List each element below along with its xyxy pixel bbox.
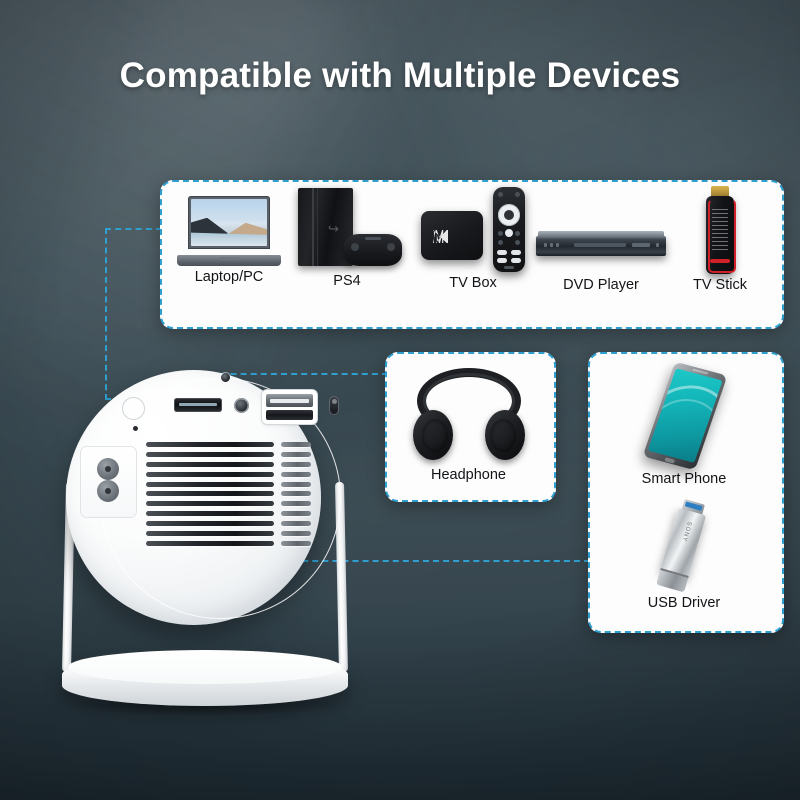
ac-socket[interactable]: [81, 447, 136, 517]
tv-box-icon: [416, 187, 530, 272]
page-title: Compatible with Multiple Devices: [0, 56, 800, 96]
device-label: Laptop/PC: [172, 269, 286, 285]
usb-drive-icon: SONY: [590, 498, 778, 592]
indicator-dot-icon: [133, 426, 138, 431]
device-tv-stick[interactable]: TV Stick: [670, 186, 770, 293]
device-headphone[interactable]: Headphone: [387, 368, 550, 483]
hdmi-port[interactable]: [174, 398, 222, 412]
portable-projector: [40, 370, 370, 710]
smartphone-icon: [590, 364, 778, 468]
ac-prong-icon: [97, 458, 119, 480]
device-label: USB Driver: [590, 595, 778, 611]
remote-control-icon: [493, 187, 525, 272]
dc-power-port[interactable]: [329, 396, 339, 415]
audio-jack-port[interactable]: [234, 398, 249, 413]
device-label: Headphone: [387, 467, 550, 483]
infographic-canvas: Compatible with Multiple Devices: [0, 0, 800, 800]
tv-stick-icon: [670, 186, 770, 274]
headphone-icon: [387, 368, 550, 464]
dvd-player-icon: [536, 218, 666, 274]
device-label: Smart Phone: [590, 471, 778, 487]
projector-vent-grille-side: [281, 442, 311, 546]
connector-hdmi-to-top-panel: [105, 228, 162, 230]
device-label: TV Stick: [670, 277, 770, 293]
device-tv-box[interactable]: TV Box: [416, 187, 530, 291]
device-usb-drive[interactable]: SONY USB Driver: [590, 498, 778, 611]
usb-slot-port[interactable]: [266, 410, 313, 420]
usb-a-port[interactable]: [266, 394, 313, 407]
usb-devices-panel: Smart Phone SONY USB Driver: [588, 352, 784, 633]
projector-stand-base-top: [68, 650, 342, 684]
ir-receiver-icon: [221, 373, 230, 382]
device-label: DVD Player: [536, 277, 666, 293]
device-ps4[interactable]: ↪ PS4: [290, 188, 404, 289]
usb-port[interactable]: [262, 390, 317, 424]
device-dvd-player[interactable]: DVD Player: [536, 218, 666, 293]
projector-body: [66, 370, 321, 625]
audio-output-panel: Headphone: [385, 352, 556, 502]
video-sources-panel: Laptop/PC ↪ PS4: [160, 180, 784, 329]
projector-vent-grille: [146, 442, 274, 546]
device-laptop[interactable]: Laptop/PC: [172, 196, 286, 285]
game-console-icon: ↪: [290, 188, 404, 270]
device-smart-phone[interactable]: Smart Phone: [590, 364, 778, 487]
decorative-circle-icon: [122, 397, 145, 420]
laptop-icon: [172, 196, 286, 266]
device-label: PS4: [290, 273, 404, 289]
device-label: TV Box: [416, 275, 530, 291]
ac-prong-icon: [97, 480, 119, 502]
